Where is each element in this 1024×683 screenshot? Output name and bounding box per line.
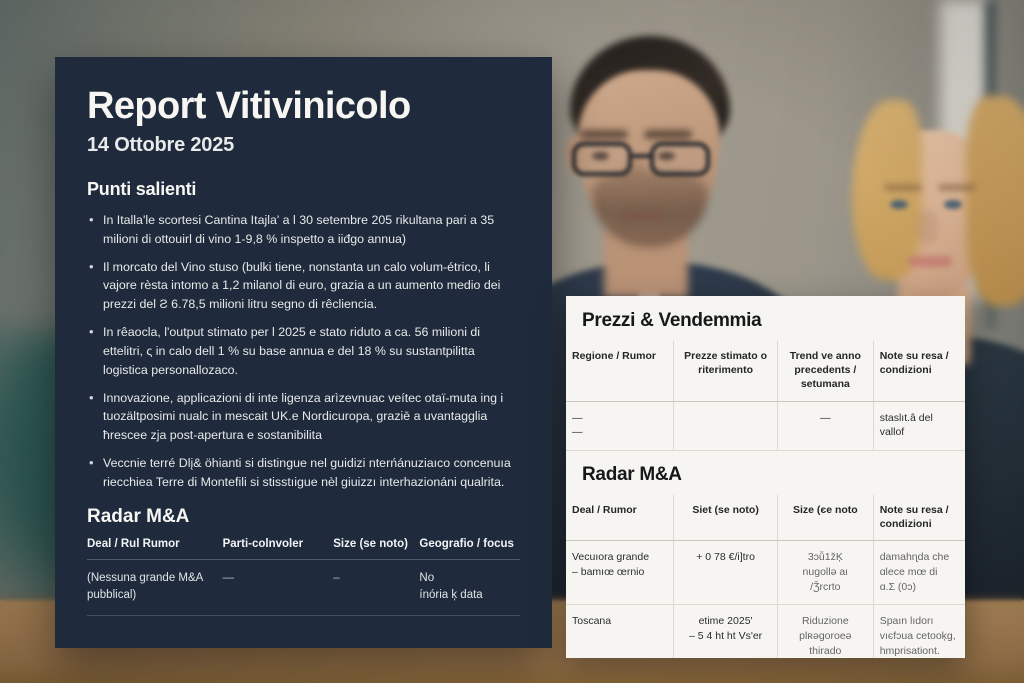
man-eyeglasses bbox=[570, 142, 720, 176]
cell-size-line3: /Ǯrcrto bbox=[784, 580, 867, 595]
col-header-siet: Siet (se noto) bbox=[674, 495, 778, 541]
col-header-note: Note su resa / condizioni bbox=[873, 495, 965, 541]
cell-siet-line1: etime 2025' bbox=[680, 614, 771, 629]
cell-note-line1: damahɳda che bbox=[880, 550, 959, 565]
eyeglass-lens-left bbox=[572, 142, 632, 176]
cell-deal-line2: – bamıœ œrnio bbox=[572, 565, 667, 580]
cell-regione-line1: — bbox=[572, 411, 667, 426]
cell-parti: — bbox=[223, 559, 334, 615]
cell-size: 3ɔǚ1žĶ nugollə aı /Ǯrcrto bbox=[777, 541, 873, 605]
cell-regione-line2: — bbox=[572, 425, 667, 440]
radar-ma-heading: Radar M&A bbox=[87, 506, 520, 528]
cell-deal: (Nessuna grande M&A pubblical) bbox=[87, 559, 223, 615]
table-row: — — — staslıt.â del vallof bbox=[566, 401, 965, 450]
col-header-regione: Regione / Rumor bbox=[566, 341, 674, 401]
radar-ma-table-light: Deal / Rumor Siet (se noto) Size (єe not… bbox=[566, 495, 965, 658]
cell-size-line3: thirado bbox=[784, 644, 867, 658]
woman-eye-left bbox=[890, 200, 908, 209]
cell-note-line1: Spaın lıdorı bbox=[880, 614, 959, 629]
cell-siet-line1: + 0 78 €/i]tro bbox=[680, 550, 771, 565]
col-header-prezzo: Prezze stimato o riterimento bbox=[674, 341, 778, 401]
woman-eye-right bbox=[944, 200, 962, 209]
col-header-deal: Deal / Rumor bbox=[566, 495, 674, 541]
cell-deal: Toscana bbox=[566, 605, 674, 658]
col-header-note: Note su resa / condizioni bbox=[873, 341, 965, 401]
cell-geografia-line2: ínória ķ data bbox=[419, 587, 514, 604]
cell-siet: + 0 78 €/i]tro bbox=[674, 541, 778, 605]
eyeglass-lens-right bbox=[650, 142, 710, 176]
man-mouth bbox=[622, 212, 664, 220]
cell-note: staslıt.â del vallof bbox=[873, 401, 965, 450]
col-header-size: Size (єe noto bbox=[777, 495, 873, 541]
cell-note-line1: staslıt.â del bbox=[880, 411, 959, 426]
woman-eyebrow-left bbox=[884, 184, 922, 191]
cell-geografia-line1: No bbox=[419, 570, 514, 587]
table-row: (Nessuna grande M&A pubblical) — – No ín… bbox=[87, 559, 520, 615]
radar-ma-panel-title: Radar M&A bbox=[566, 451, 965, 495]
col-header-parti: Parti-colnvoler bbox=[223, 538, 334, 560]
page-title: Report Vitivinicolo bbox=[87, 87, 520, 127]
cell-note-line3: hmprisationt. bbox=[880, 644, 959, 658]
woman-hair-front-right bbox=[966, 96, 1024, 306]
report-date: 14 Ottobre 2025 bbox=[87, 134, 520, 157]
highlights-heading: Punti salienti bbox=[87, 179, 520, 200]
radar-ma-table-dark: Deal / Rul Rumor Parti-colnvoler Size (s… bbox=[87, 538, 520, 616]
cell-note-line2: vıєfɔua cetooķɡ, bbox=[880, 629, 959, 644]
col-header-geografia: Geografio / focus bbox=[419, 538, 520, 560]
cell-size-line1: Riduzione bbox=[784, 614, 867, 629]
cell-size: Riduzione plʀəgoroeə thirado bbox=[777, 605, 873, 658]
screenshot-root: Report Vitivinicolo 14 Ottobre 2025 Punt… bbox=[0, 0, 1024, 683]
cell-deal-line1: Vecuıora grande bbox=[572, 550, 667, 565]
cell-note-line2: vallof bbox=[880, 425, 959, 440]
table-header-row: Deal / Rul Rumor Parti-colnvoler Size (s… bbox=[87, 538, 520, 560]
col-header-size: Size (se noto) bbox=[333, 538, 419, 560]
table-header-row: Regione / Rumor Prezze stimato o riterim… bbox=[566, 341, 965, 401]
list-item: In rêaocla, l'output stimato per l 2025 … bbox=[87, 323, 520, 380]
cell-size: – bbox=[333, 559, 419, 615]
list-item: Il morcato del Vino stuso (bulki tiene, … bbox=[87, 258, 520, 315]
cell-deal: Vecuıora grande – bamıœ œrnio bbox=[566, 541, 674, 605]
cell-note-line3: ɑ.Ʃ (0ɔ) bbox=[880, 580, 959, 595]
list-item: Veccnie terré Dlį& öhianti si distingue … bbox=[87, 454, 520, 492]
cell-note: Spaın lıdorı vıєfɔua cetooķɡ, hmprisatio… bbox=[873, 605, 965, 658]
cell-deal-line1: Toscana bbox=[572, 614, 667, 629]
prices-panel: Prezzi & Vendemmia Regione / Rumor Prezz… bbox=[566, 296, 965, 658]
list-item: In Italla'le scortesi Cantina Itajla' a … bbox=[87, 211, 520, 249]
prices-panel-title: Prezzi & Vendemmia bbox=[566, 310, 965, 341]
cell-trend: — bbox=[777, 401, 873, 450]
cell-note: damahɳda che ɑlece mœ di ɑ.Ʃ (0ɔ) bbox=[873, 541, 965, 605]
cell-siet-line2: – 5 4 ht ht Vs'er bbox=[680, 629, 771, 644]
man-eyebrow-left bbox=[580, 130, 628, 139]
report-card: Report Vitivinicolo 14 Ottobre 2025 Punt… bbox=[55, 57, 552, 648]
cell-size-line2: nugollə aı bbox=[784, 565, 867, 580]
table-row: Vecuıora grande – bamıœ œrnio + 0 78 €/i… bbox=[566, 541, 965, 605]
prices-table: Regione / Rumor Prezze stimato o riterim… bbox=[566, 341, 965, 451]
highlights-list: In Italla'le scortesi Cantina Itajla' a … bbox=[87, 211, 520, 492]
woman-nose bbox=[918, 210, 938, 244]
cell-size-line2: plʀəgoroeə bbox=[784, 629, 867, 644]
table-header-row: Deal / Rumor Siet (se noto) Size (єe not… bbox=[566, 495, 965, 541]
cell-regione: — — bbox=[566, 401, 674, 450]
cell-note-line2: ɑlece mœ di bbox=[880, 565, 959, 580]
cell-geografia: No ínória ķ data bbox=[419, 559, 520, 615]
cell-prezzo bbox=[674, 401, 778, 450]
man-eyebrow-right bbox=[644, 130, 692, 139]
cell-size-line1: 3ɔǚ1žĶ bbox=[784, 550, 867, 565]
col-header-trend: Trend ve anno precedents / setumana bbox=[777, 341, 873, 401]
woman-mouth bbox=[908, 256, 952, 267]
table-row: Toscana etime 2025' – 5 4 ht ht Vs'er Ri… bbox=[566, 605, 965, 658]
col-header-deal: Deal / Rul Rumor bbox=[87, 538, 223, 560]
list-item: Innovazione, applicazioni di inte ligenz… bbox=[87, 389, 520, 446]
cell-siet: etime 2025' – 5 4 ht ht Vs'er bbox=[674, 605, 778, 658]
eyeglass-bridge bbox=[632, 154, 652, 158]
woman-eyebrow-right bbox=[938, 184, 976, 191]
